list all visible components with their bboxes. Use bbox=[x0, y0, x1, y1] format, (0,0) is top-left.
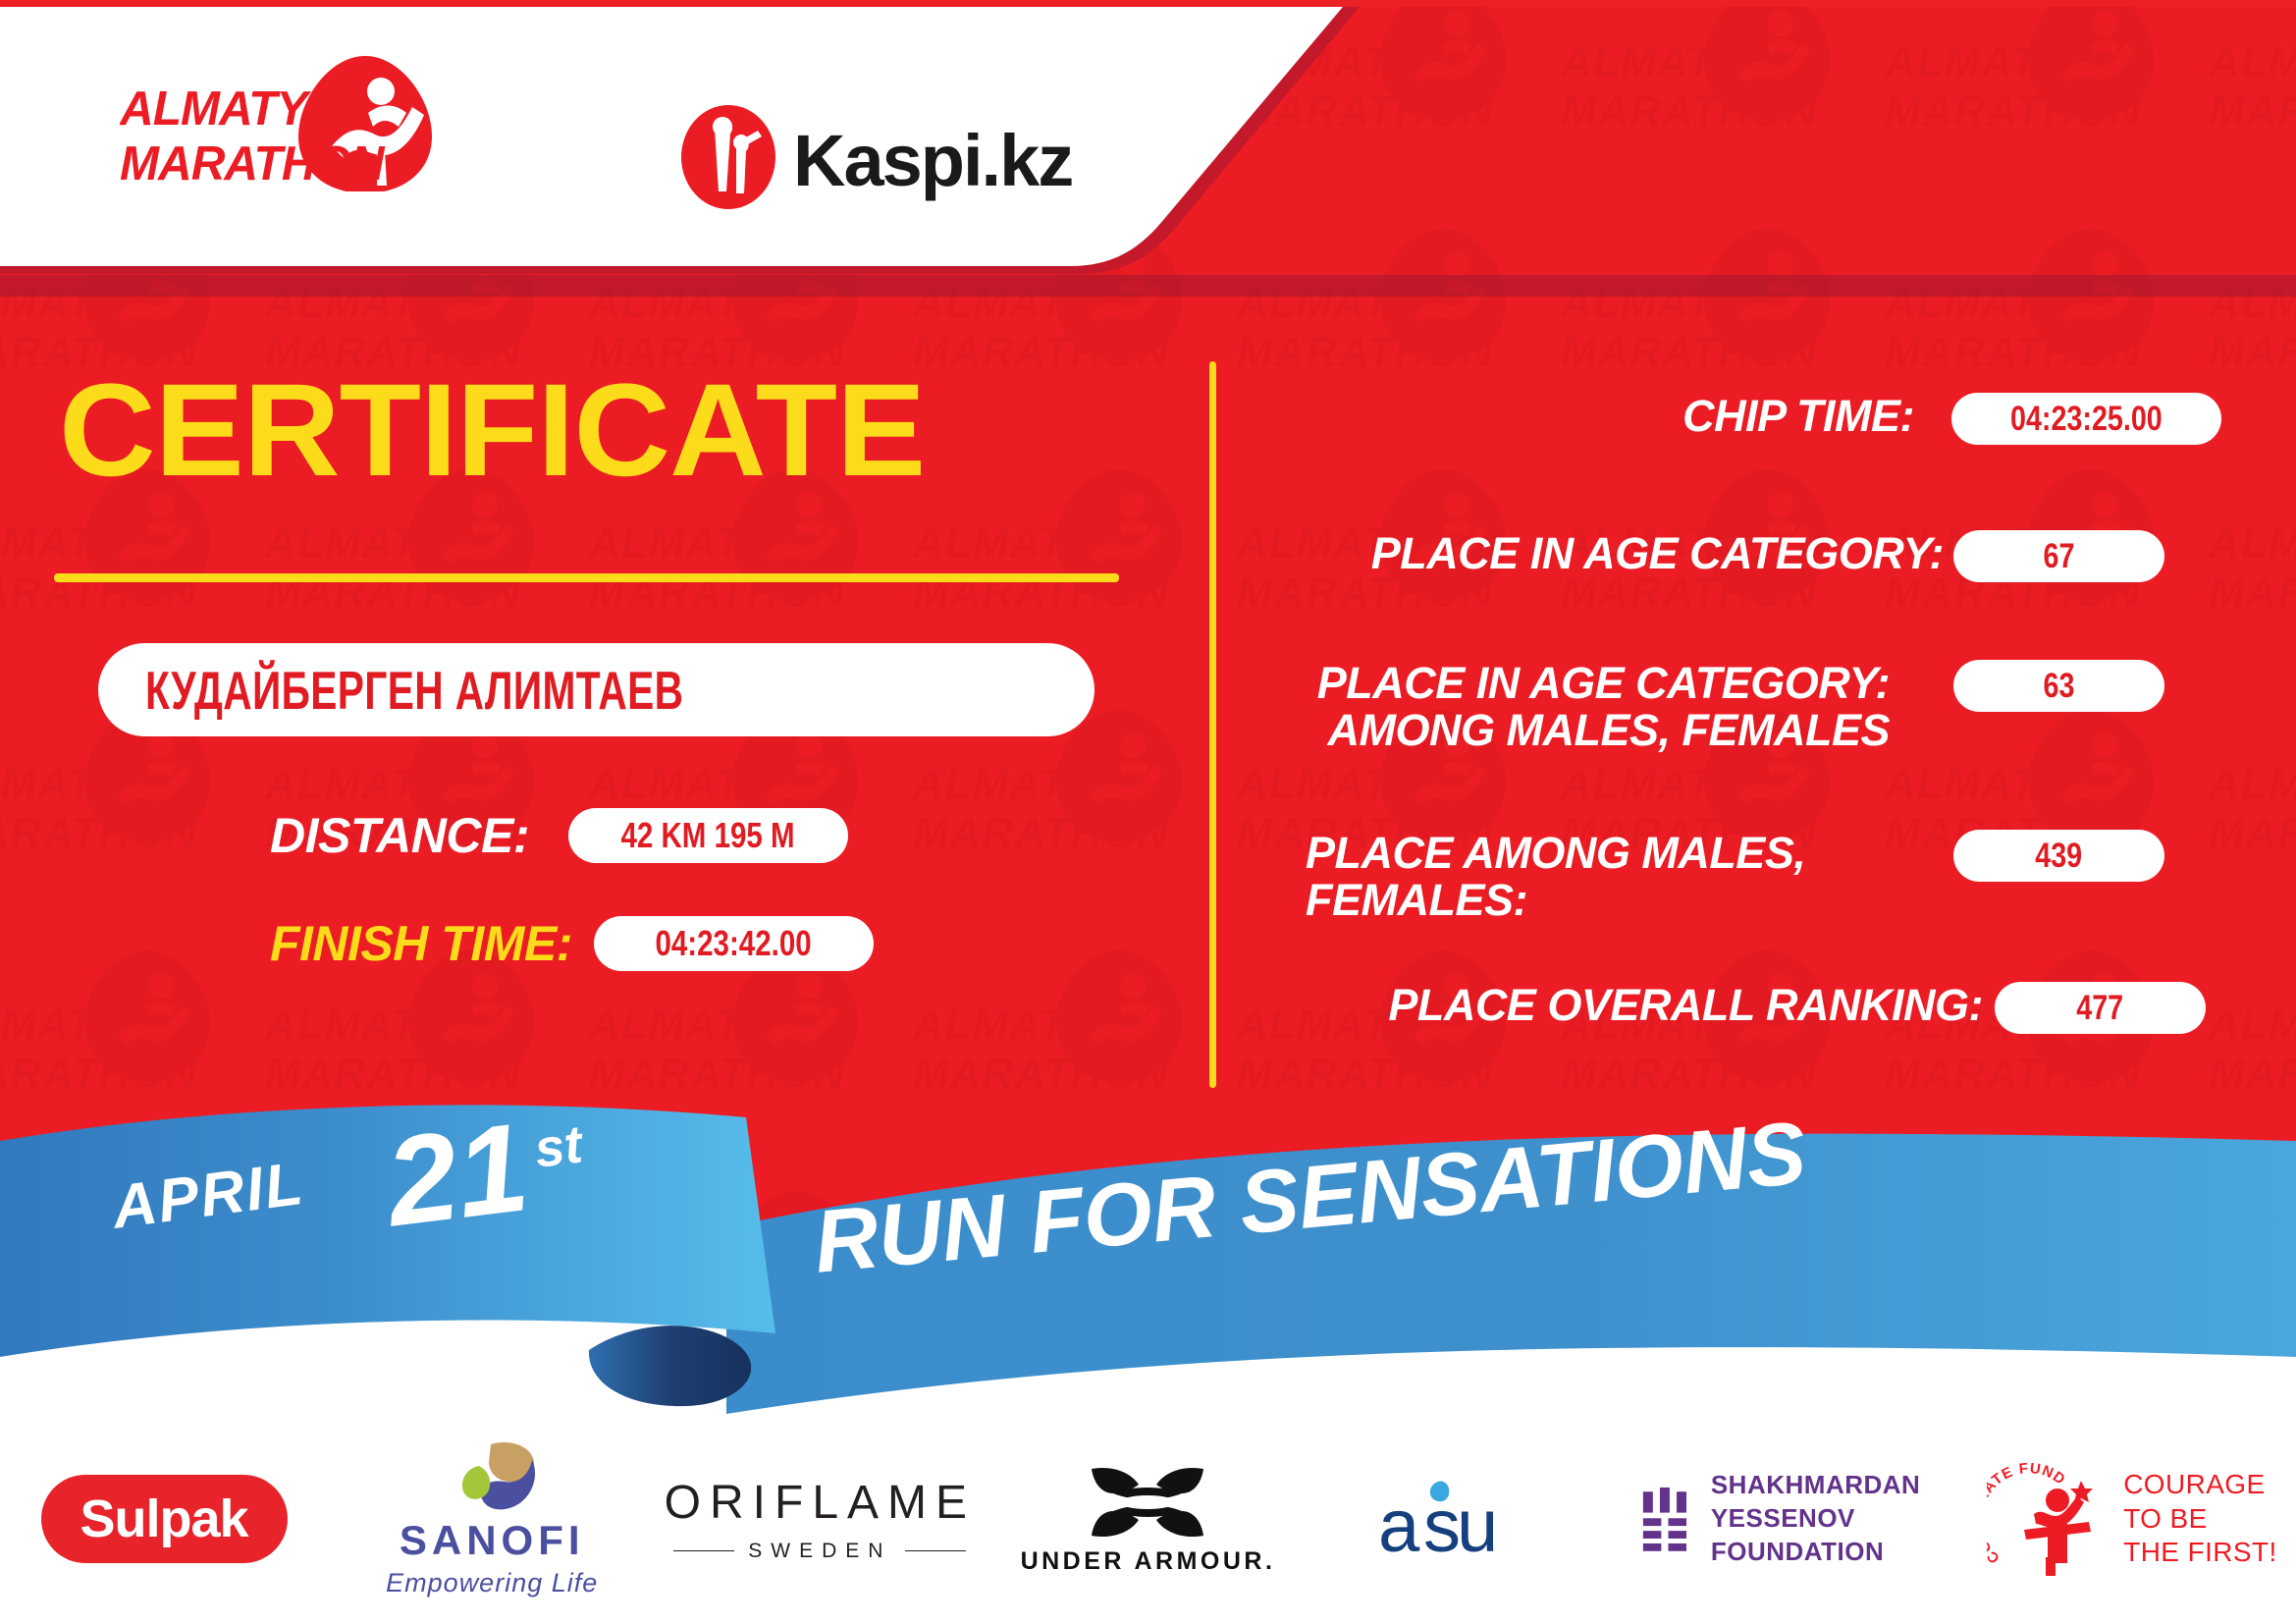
distance-row: DISTANCE: 42 KM 195 M bbox=[270, 807, 848, 864]
distance-value: 42 KM 195 M bbox=[621, 815, 795, 856]
place-overall-ranking-row: PLACE OVERALL RANKING: 477 bbox=[1306, 982, 2206, 1034]
top-accent-rule bbox=[0, 0, 2296, 7]
yessenov-mark-icon bbox=[1640, 1475, 1693, 1563]
place-age-category-among-value: 63 bbox=[2044, 667, 2075, 706]
distance-value-pill: 42 KM 195 M bbox=[568, 808, 848, 863]
sponsor-asu: a su bbox=[1312, 1435, 1640, 1602]
finish-time-label: FINISH TIME: bbox=[270, 915, 572, 972]
svg-text:su: su bbox=[1423, 1485, 1494, 1563]
svg-text:ALMATY: ALMATY bbox=[120, 82, 311, 136]
place-among-males-females-label: PLACE AMONG MALES, FEMALES: bbox=[1306, 830, 1836, 923]
chip-time-label: CHIP TIME: bbox=[1306, 393, 1914, 440]
chip-time-value: 04:23:25.00 bbox=[2010, 400, 2163, 439]
sulpak-label: Sulpak bbox=[80, 1489, 248, 1548]
header-panel: ALMATY MARATHON Kaspi.kz bbox=[0, 7, 1364, 297]
under-armour-icon bbox=[1084, 1463, 1211, 1542]
asu-logo-icon: a su bbox=[1378, 1475, 1575, 1563]
sponsor-sulpak: Sulpak bbox=[0, 1435, 328, 1602]
sanofi-wordmark: SANOFI bbox=[400, 1517, 585, 1564]
sanofi-tagline: Empowering Life bbox=[386, 1568, 598, 1598]
oriflame-rule-right bbox=[905, 1550, 966, 1551]
label-line-1: PLACE IN AGE CATEGORY: bbox=[1306, 660, 1890, 707]
place-age-category-value-pill: 67 bbox=[1953, 530, 2164, 582]
courage-wordmark: COURAGE TO BE THE FIRST! bbox=[2123, 1468, 2276, 1570]
oriflame-rule-left bbox=[673, 1550, 734, 1551]
almaty-marathon-logo: ALMATY MARATHON bbox=[120, 54, 444, 191]
place-age-category-among-label: PLACE IN AGE CATEGORY: AMONG MALES, FEMA… bbox=[1306, 660, 1890, 753]
label-line-2: AMONG MALES, FEMALES bbox=[1306, 707, 1890, 754]
sulpak-logo: Sulpak bbox=[41, 1475, 288, 1563]
ribbon-day: 21 bbox=[379, 1095, 535, 1255]
place-age-category-among-value-pill: 63 bbox=[1953, 660, 2164, 712]
place-overall-ranking-label: PLACE OVERALL RANKING: bbox=[1306, 982, 1983, 1029]
sponsor-yessenov: SHAKHMARDAN YESSENOV FOUNDATION bbox=[1640, 1435, 1968, 1602]
oriflame-tagline-row: SWEDEN bbox=[673, 1540, 966, 1563]
sponsor-oriflame: ORIFLAME SWEDEN bbox=[656, 1435, 984, 1602]
participant-name-field: КУДАЙБЕРГЕН АЛИМТАЕВ bbox=[98, 643, 1095, 736]
courage-line-3: THE FIRST! bbox=[2123, 1536, 2276, 1570]
place-among-males-females-value: 439 bbox=[2036, 837, 2083, 876]
yessenov-wordmark: SHAKHMARDAN YESSENOV FOUNDATION bbox=[1711, 1469, 1968, 1568]
page-title: CERTIFICATE bbox=[59, 365, 925, 497]
finish-time-value: 04:23:42.00 bbox=[656, 923, 812, 964]
distance-label: DISTANCE: bbox=[270, 807, 529, 864]
place-age-category-value: 67 bbox=[2044, 537, 2075, 576]
ribbon-ordinal: st bbox=[531, 1113, 585, 1179]
place-overall-ranking-value-pill: 477 bbox=[1995, 982, 2206, 1034]
place-among-males-females-value-pill: 439 bbox=[1953, 830, 2164, 882]
place-age-category-label: PLACE IN AGE CATEGORY: bbox=[1306, 530, 1944, 577]
column-divider bbox=[1209, 361, 1216, 1088]
place-age-category-row: PLACE IN AGE CATEGORY: 67 bbox=[1306, 530, 2164, 582]
participant-name: КУДАЙБЕРГЕН АЛИМТАЕВ bbox=[145, 659, 683, 722]
oriflame-wordmark: ORIFLAME bbox=[665, 1476, 976, 1530]
under-armour-wordmark: UNDER ARMOUR. bbox=[1021, 1547, 1276, 1576]
certificate-page: ALMATY MARATHON bbox=[0, 0, 2296, 1624]
courage-line-1: COURAGE bbox=[2123, 1468, 2276, 1502]
chip-time-value-pill: 04:23:25.00 bbox=[1951, 393, 2221, 445]
yessenov-line-2: FOUNDATION bbox=[1711, 1536, 1968, 1569]
sponsor-under-armour: UNDER ARMOUR. bbox=[984, 1435, 1311, 1602]
sponsor-strip: Sulpak SANOFI Empowering Life ORIFLAME S… bbox=[0, 1414, 2296, 1624]
sponsor-courage: CORPORATE FUND COURAGE TO BE THE FIRST! bbox=[1968, 1435, 2296, 1602]
yessenov-line-1: SHAKHMARDAN YESSENOV bbox=[1711, 1469, 1968, 1536]
place-among-males-females-row: PLACE AMONG MALES, FEMALES: 439 bbox=[1306, 830, 2164, 923]
courage-line-2: TO BE bbox=[2123, 1502, 2276, 1537]
label-line-2: FEMALES: bbox=[1306, 877, 1836, 924]
svg-text:a: a bbox=[1378, 1485, 1420, 1563]
sanofi-mark-icon bbox=[438, 1440, 546, 1517]
finish-time-value-pill: 04:23:42.00 bbox=[594, 916, 874, 971]
svg-text:MARATHON: MARATHON bbox=[120, 137, 386, 191]
finish-time-row: FINISH TIME: 04:23:42.00 bbox=[270, 915, 874, 972]
oriflame-tagline: SWEDEN bbox=[748, 1540, 891, 1563]
chip-time-row: CHIP TIME: 04:23:25.00 bbox=[1306, 393, 2221, 445]
place-age-category-among-row: PLACE IN AGE CATEGORY: AMONG MALES, FEMA… bbox=[1306, 660, 2164, 753]
corporate-fund-runner-icon: CORPORATE FUND bbox=[1987, 1463, 2109, 1576]
label-line-1: PLACE AMONG MALES, bbox=[1306, 830, 1836, 877]
kaspi-logo: Kaspi.kz bbox=[677, 103, 1090, 211]
title-underline bbox=[54, 573, 1119, 582]
place-overall-ranking-value: 477 bbox=[2077, 989, 2124, 1028]
sponsor-sanofi: SANOFI Empowering Life bbox=[328, 1435, 656, 1602]
svg-text:Kaspi.kz: Kaspi.kz bbox=[793, 120, 1072, 201]
